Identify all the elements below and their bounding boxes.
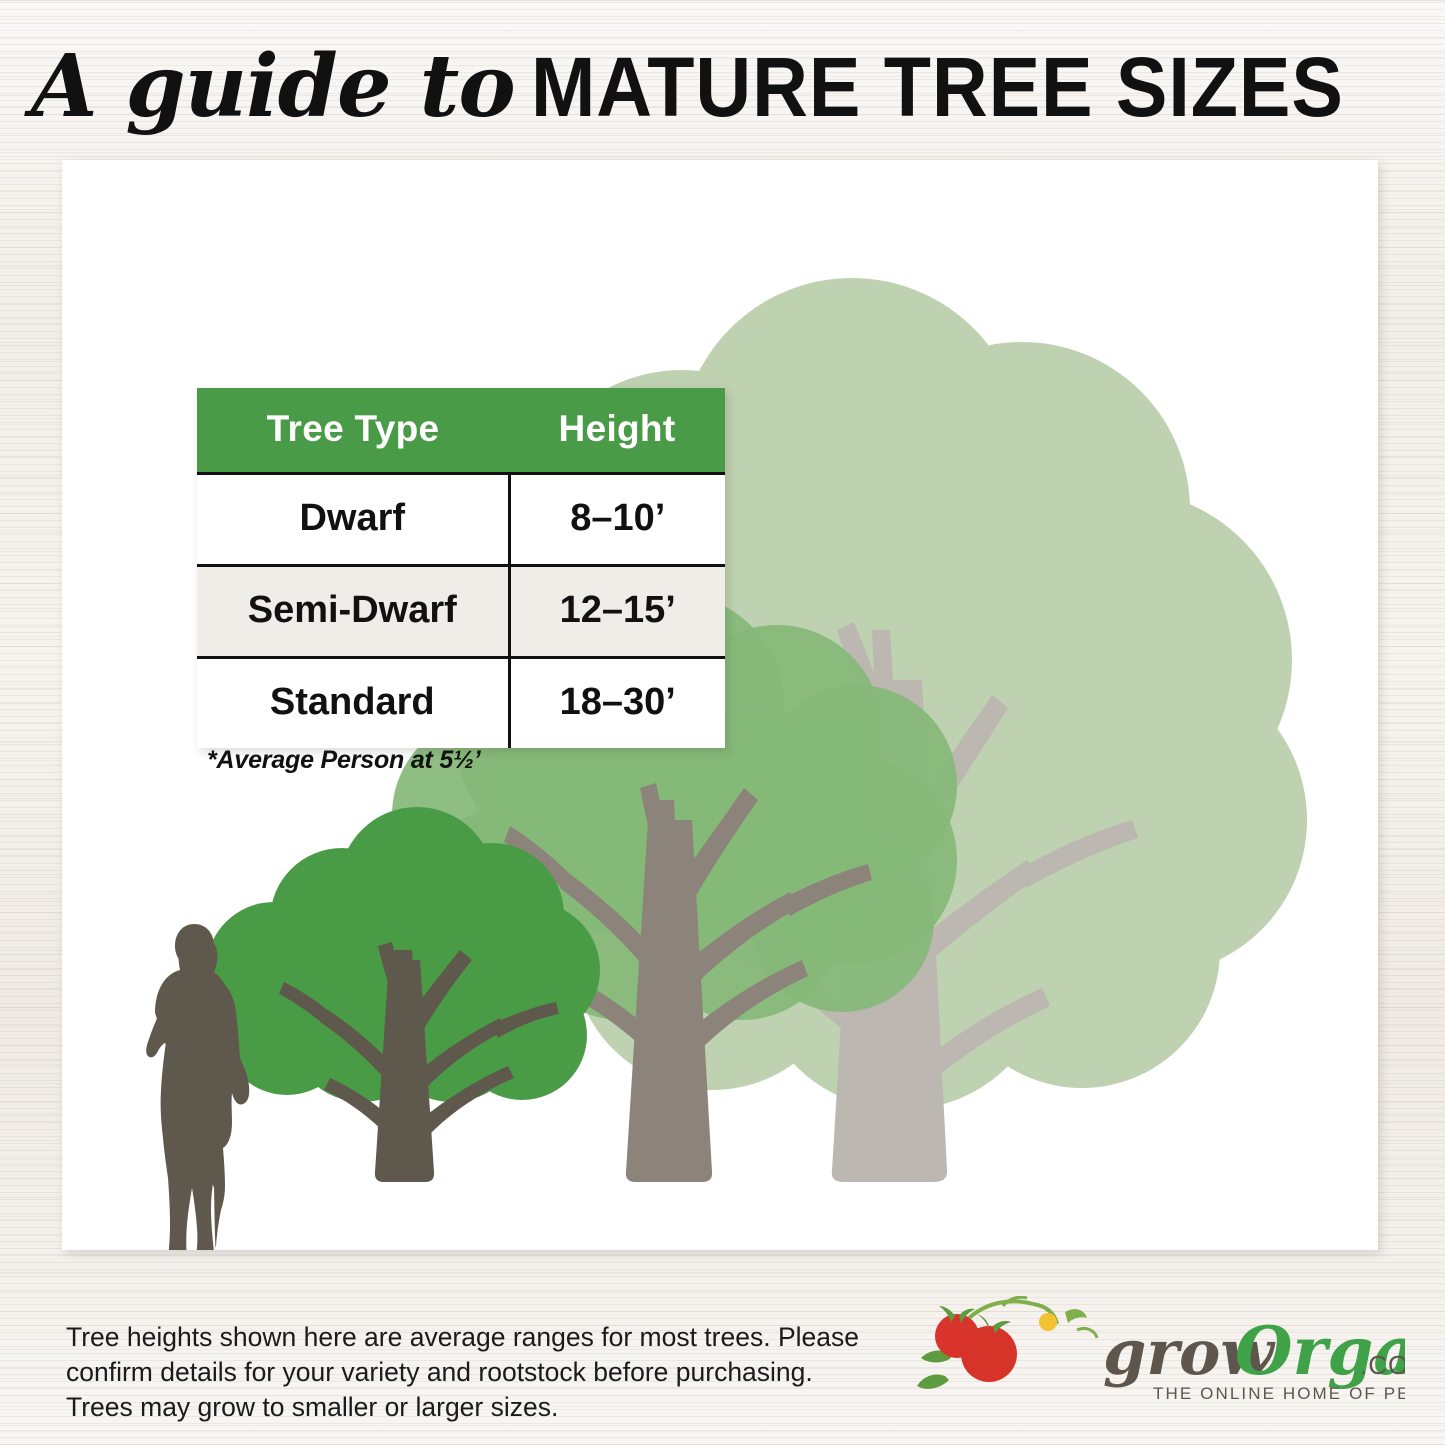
tree-size-table: Tree Type Height Dwarf 8–10’ Semi-Dwarf …: [197, 388, 725, 748]
cell-tree-type: Standard: [197, 658, 509, 749]
logo-tagline: THE ONLINE HOME OF PEACEFUL VALLEY: [1153, 1384, 1405, 1403]
page-title: A guide toMATURE TREE SIZES: [0, 44, 1445, 130]
cell-height: 12–15’: [509, 566, 725, 658]
table-row: Dwarf 8–10’: [197, 474, 725, 566]
dwarf-tree: [206, 807, 600, 1182]
column-header-height: Height: [509, 388, 725, 474]
footer-disclaimer: Tree heights shown here are average rang…: [66, 1320, 886, 1425]
column-header-tree-type: Tree Type: [197, 388, 509, 474]
infographic-page: A guide toMATURE TREE SIZES: [0, 0, 1445, 1445]
table-header-row: Tree Type Height: [197, 388, 725, 474]
cell-tree-type: Semi-Dwarf: [197, 566, 509, 658]
cell-height: 8–10’: [509, 474, 725, 566]
tree-size-table-container: Tree Type Height Dwarf 8–10’ Semi-Dwarf …: [197, 388, 725, 748]
title-block-part: MATURE TREE SIZES: [531, 45, 1344, 129]
table-row: Standard 18–30’: [197, 658, 725, 749]
tomato-icon: [917, 1297, 1097, 1389]
logo-word-com: .COM: [1360, 1350, 1405, 1380]
table-footnote: *Average Person at 5½’: [207, 746, 481, 775]
grow-organic-logo[interactable]: grow Organic .COM THE ONLINE HOME OF PEA…: [905, 1296, 1405, 1411]
content-card: Tree Type Height Dwarf 8–10’ Semi-Dwarf …: [62, 160, 1378, 1250]
title-script-part: A guide to: [31, 36, 515, 137]
cell-tree-type: Dwarf: [197, 474, 509, 566]
cell-height: 18–30’: [509, 658, 725, 749]
table-row: Semi-Dwarf 12–15’: [197, 566, 725, 658]
